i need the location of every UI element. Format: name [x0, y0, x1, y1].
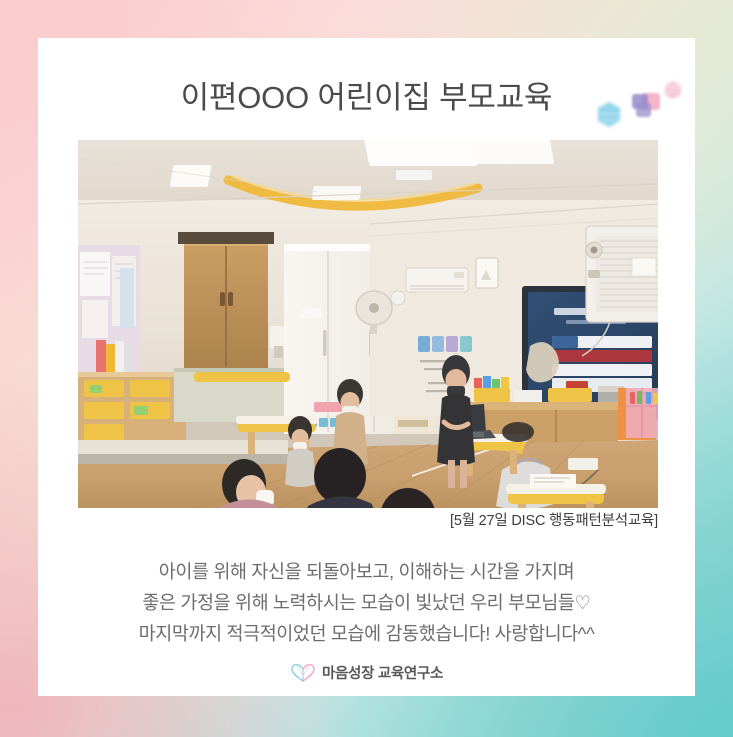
title-row: 이편OOO 어린이집 부모교육: [38, 67, 695, 129]
body-paragraph: 아이를 위해 자신을 되돌아보고, 이해하는 시간을 가지며 좋은 가정을 위해…: [38, 556, 695, 649]
body-line-3: 마지막까지 적극적이었던 모습에 감동했습니다! 사랑합니다^^: [38, 618, 695, 649]
white-card: 이편OOO 어린이집 부모교육: [38, 38, 695, 696]
page-title: 이편OOO 어린이집 부모교육: [38, 67, 695, 129]
parent-education-classroom-photo: [78, 140, 658, 508]
poster-canvas: 이편OOO 어린이집 부모교육: [0, 0, 733, 737]
body-line-1: 아이를 위해 자신을 되돌아보고, 이해하는 시간을 가지며: [38, 556, 695, 587]
photo-caption: [5월 27일 DISC 행동패턴분석교육]: [78, 509, 658, 530]
body-line-2: 좋은 가정을 위해 노력하시는 모습이 빛났던 우리 부모님들♡: [38, 587, 695, 618]
footer-brand: 마음성장 교육연구소: [38, 662, 695, 683]
brand-name: 마음성장 교육연구소: [322, 662, 443, 683]
heart-logo-icon: [290, 663, 316, 683]
